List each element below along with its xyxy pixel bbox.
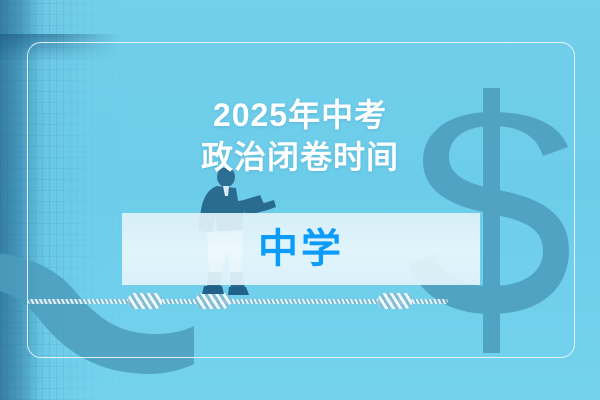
rope-knot [128,293,162,309]
title-line-2: 政治闭卷时间 [0,136,600,178]
banner-image: 2025年中考 政治闭卷时间 中学 [0,0,600,400]
category-label: 中学 [258,229,344,269]
category-band: 中学 [122,213,480,285]
horizon-band [0,34,120,60]
title-line-1: 2025年中考 [0,94,600,136]
banner-title: 2025年中考 政治闭卷时间 [0,94,600,178]
rope-knot [378,293,412,309]
